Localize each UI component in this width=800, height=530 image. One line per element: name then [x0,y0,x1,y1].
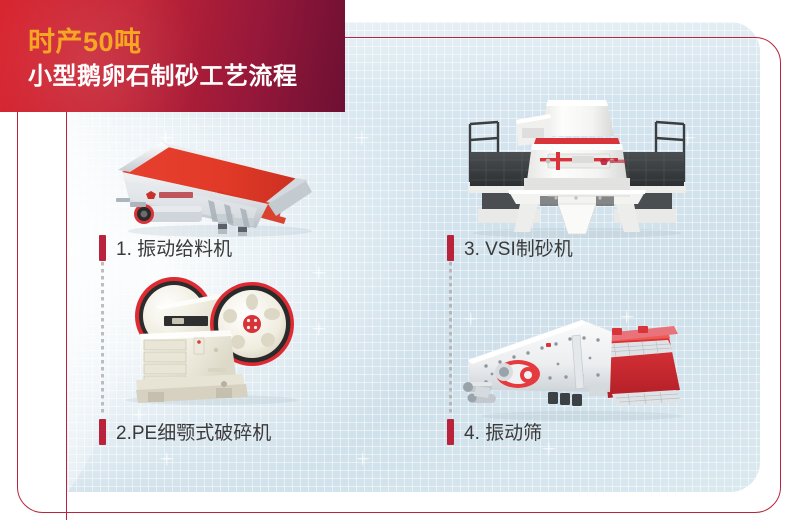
banner-headline: 时产50吨 [28,20,142,59]
step-label: 3. VSI制砂机 [464,234,573,261]
machine-vibrating-screen [462,298,694,422]
machine-vsi-sand-maker [452,92,702,240]
machine-vibrating-feeder [100,128,325,238]
vibrating-feeder-icon [100,128,325,238]
title-banner: 时产50吨 小型鹅卵石制砂工艺流程 [0,0,345,112]
step-accent-bar [99,235,106,261]
step-caption-1[interactable]: 1. 振动给料机 [99,234,232,261]
connector-right-column [449,262,452,414]
banner-subheadline: 小型鹅卵石制砂工艺流程 [28,56,298,91]
vsi-sand-maker-icon [452,92,702,240]
step-label: 2.PE细颚式破碎机 [116,418,271,445]
vibrating-screen-icon [462,298,694,422]
infographic-canvas: 1. 振动给料机 2.PE细颚式破碎机 3. VSI制砂机 4. 振动筛 时产5… [0,0,800,530]
step-caption-3[interactable]: 3. VSI制砂机 [447,234,573,261]
connector-left-column [101,262,104,414]
machine-jaw-crusher [112,272,312,407]
jaw-crusher-icon [112,272,312,407]
step-accent-bar [447,419,454,445]
step-caption-4[interactable]: 4. 振动筛 [447,418,542,445]
step-caption-2[interactable]: 2.PE细颚式破碎机 [99,418,271,445]
step-label: 1. 振动给料机 [116,234,232,261]
step-accent-bar [447,235,454,261]
step-label: 4. 振动筛 [464,418,542,445]
step-accent-bar [99,419,106,445]
left-red-rule [66,108,67,520]
